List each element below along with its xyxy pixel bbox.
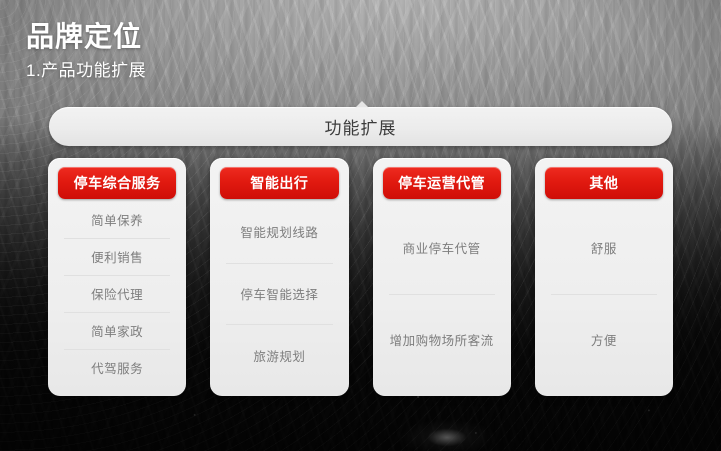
category-card-row: 停车综合服务 简单保养 便利销售 保险代理 简单家政 代驾服务 智能出行 智能规…: [48, 158, 673, 396]
slide-heading: 品牌定位 1.产品功能扩展: [26, 22, 146, 81]
chevron-up-icon: [355, 101, 369, 108]
category-card-title: 停车综合服务: [74, 173, 161, 193]
list-item[interactable]: 保险代理: [58, 275, 176, 312]
list-item[interactable]: 旅游规划: [220, 324, 338, 386]
list-item[interactable]: 智能规划线路: [220, 201, 338, 263]
page-subtitle: 1.产品功能扩展: [26, 56, 146, 81]
list-item[interactable]: 简单家政: [58, 312, 176, 349]
category-card-header: 停车综合服务: [58, 167, 176, 199]
category-card-title: 智能出行: [250, 173, 308, 193]
feature-banner-bar: 功能扩展: [49, 107, 672, 146]
category-card-title: 停车运营代管: [398, 173, 485, 193]
list-item[interactable]: 增加购物场所客流: [383, 294, 501, 387]
category-item-list: 舒服 方便: [545, 201, 663, 386]
list-item[interactable]: 方便: [545, 294, 663, 387]
feature-banner: 功能扩展: [49, 107, 672, 146]
list-item[interactable]: 代驾服务: [58, 349, 176, 386]
category-item-list: 智能规划线路 停车智能选择 旅游规划: [220, 201, 338, 386]
page-title: 品牌定位: [26, 22, 146, 51]
category-card-header: 智能出行: [220, 167, 338, 199]
slide-root: 品牌定位 1.产品功能扩展 功能扩展 停车综合服务 简单保养 便利销售 保险代理…: [0, 0, 721, 451]
category-card-title: 其他: [589, 173, 618, 193]
list-item[interactable]: 舒服: [545, 201, 663, 294]
list-item[interactable]: 简单保养: [58, 201, 176, 238]
feature-banner-label: 功能扩展: [325, 114, 397, 139]
category-item-list: 简单保养 便利销售 保险代理 简单家政 代驾服务: [58, 201, 176, 386]
category-item-list: 商业停车代管 增加购物场所客流: [383, 201, 501, 386]
category-card-header: 停车运营代管: [383, 167, 501, 199]
category-card-header: 其他: [545, 167, 663, 199]
category-card-other[interactable]: 其他 舒服 方便: [535, 158, 673, 396]
list-item[interactable]: 便利销售: [58, 238, 176, 275]
category-card-smart-travel[interactable]: 智能出行 智能规划线路 停车智能选择 旅游规划: [210, 158, 348, 396]
category-card-parking-operations[interactable]: 停车运营代管 商业停车代管 增加购物场所客流: [373, 158, 511, 396]
category-card-parking-services[interactable]: 停车综合服务 简单保养 便利销售 保险代理 简单家政 代驾服务: [48, 158, 186, 396]
list-item[interactable]: 停车智能选择: [220, 263, 338, 325]
list-item[interactable]: 商业停车代管: [383, 201, 501, 294]
